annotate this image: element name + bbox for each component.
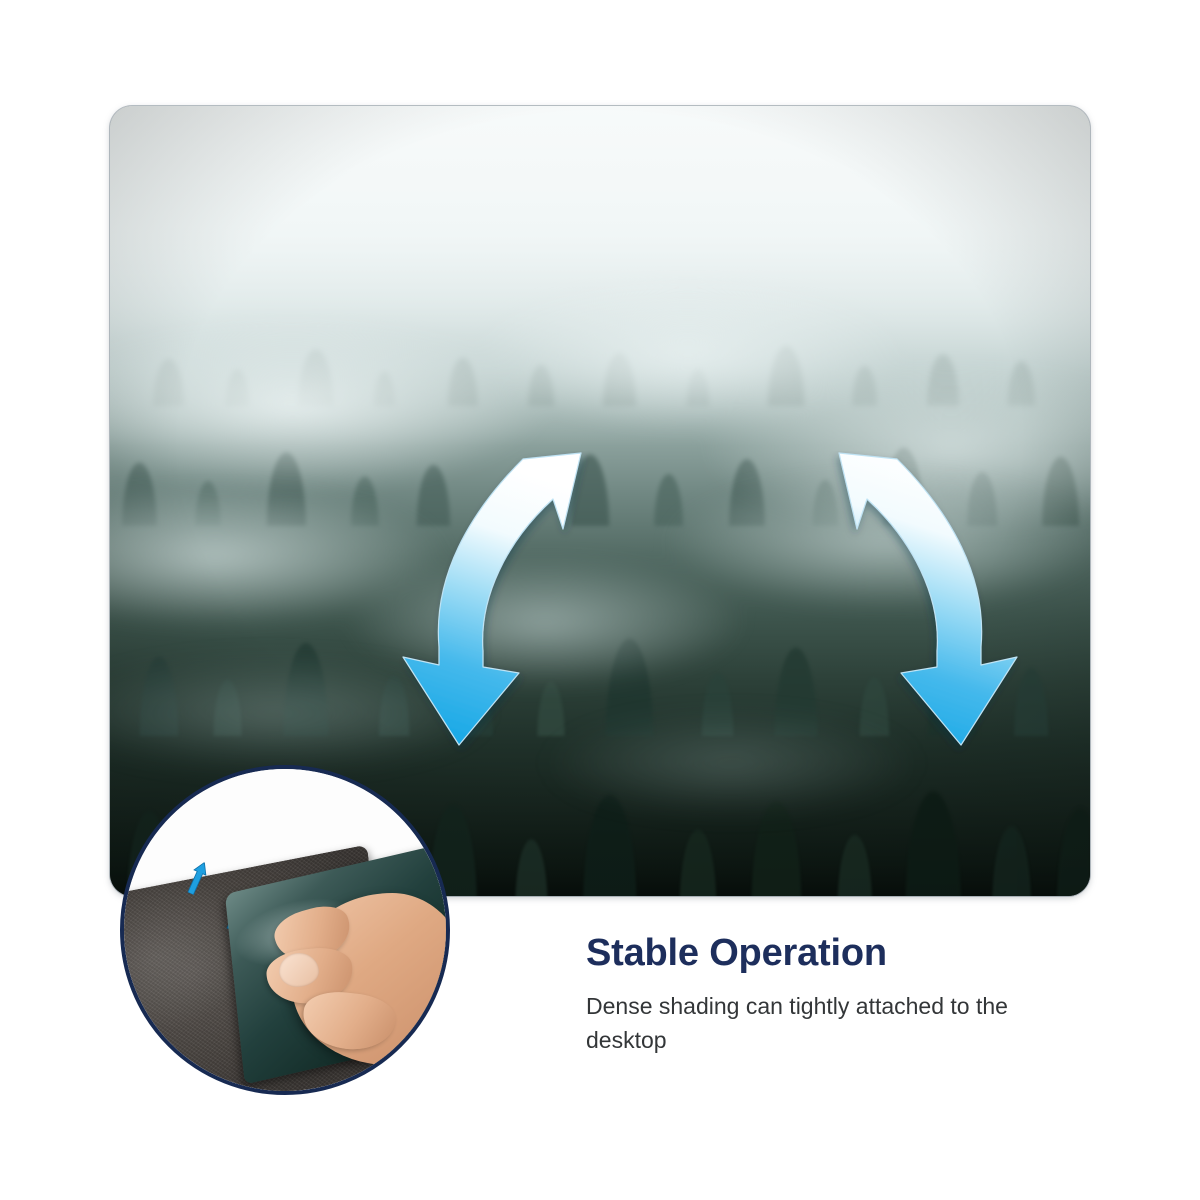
thumbnail: [279, 953, 319, 987]
feature-headline: Stable Operation: [586, 932, 1106, 975]
non-slip-base-closeup-inset: [120, 765, 450, 1095]
feature-body-line-1: Dense shading can tightly attached: [586, 993, 944, 1019]
feature-body: Dense shading can tightly attached to th…: [586, 989, 1041, 1057]
feature-text-block: Stable Operation Dense shading can tight…: [586, 932, 1106, 1057]
hand-lifting-pad: [257, 853, 450, 1073]
